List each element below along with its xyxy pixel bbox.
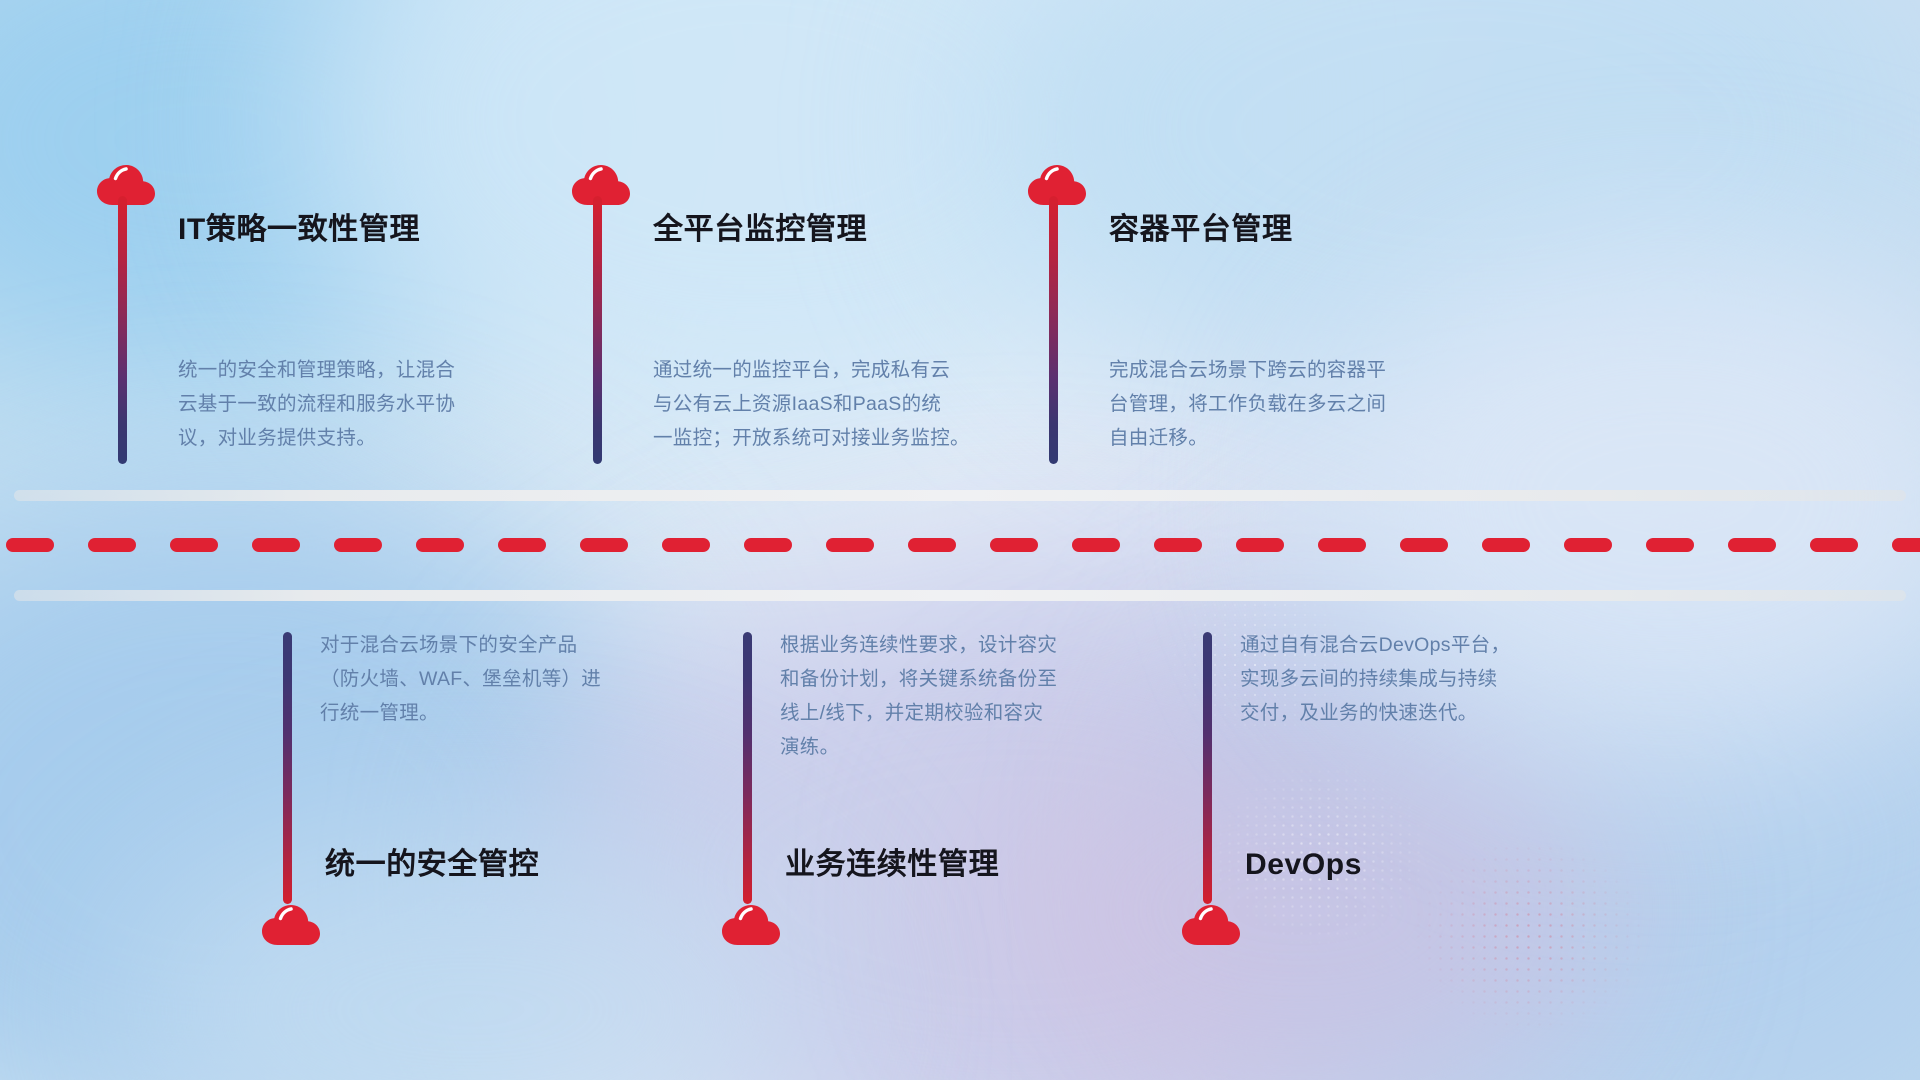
divider-dash (1072, 538, 1120, 552)
divider-dash (580, 538, 628, 552)
cloud-icon (720, 900, 782, 946)
column-title: 统一的安全管控 (325, 847, 539, 883)
background-speckle (1380, 810, 1680, 1060)
column-title: IT策略一致性管理 (178, 212, 420, 248)
body-line: 与公有云上资源IaaS和PaaS的统 (653, 387, 1053, 421)
body-line: 一监控；开放系统可对接业务监控。 (653, 421, 1053, 455)
body-line: 议，对业务提供支持。 (178, 421, 578, 455)
connector-stalk (118, 196, 127, 464)
divider-dash (990, 538, 1038, 552)
divider-dash (826, 538, 874, 552)
body-line: （防火墙、WAF、堡垒机等）进 (320, 662, 720, 696)
divider-dash (252, 538, 300, 552)
body-line: 交付，及业务的快速迭代。 (1240, 696, 1640, 730)
body-line: 对于混合云场景下的安全产品 (320, 628, 720, 662)
divider-rule-bottom (14, 590, 1906, 601)
body-line: 实现多云间的持续集成与持续 (1240, 662, 1640, 696)
background-blob (1180, 520, 1920, 1080)
divider-dash (1892, 538, 1920, 552)
divider-dash (1728, 538, 1776, 552)
divider-dash (1236, 538, 1284, 552)
connector-stalk (1049, 196, 1058, 464)
body-line: 统一的安全和管理策略，让混合 (178, 353, 578, 387)
divider-dash (416, 538, 464, 552)
divider-dash (662, 538, 710, 552)
cloud-icon (260, 900, 322, 946)
body-line: 云基于一致的流程和服务水平协 (178, 387, 578, 421)
column-title: 全平台监控管理 (653, 212, 867, 248)
body-line: 行统一管理。 (320, 696, 720, 730)
body-line: 通过统一的监控平台，完成私有云 (653, 353, 1053, 387)
column-body: 完成混合云场景下跨云的容器平 台管理，将工作负载在多云之间 自由迁移。 (1109, 353, 1509, 455)
divider-dash (334, 538, 382, 552)
column-body: 统一的安全和管理策略，让混合 云基于一致的流程和服务水平协 议，对业务提供支持。 (178, 353, 578, 455)
connector-stalk (743, 632, 752, 904)
divider-rule-top (14, 490, 1906, 501)
body-line: 完成混合云场景下跨云的容器平 (1109, 353, 1509, 387)
cloud-icon (1180, 900, 1242, 946)
background-blob (0, 0, 560, 400)
divider-dash (170, 538, 218, 552)
divider-dash (1318, 538, 1366, 552)
body-line: 线上/线下，并定期校验和容灾 (780, 696, 1180, 730)
connector-stalk (593, 196, 602, 464)
connector-stalk (1203, 632, 1212, 904)
infographic-canvas: IT策略一致性管理 统一的安全和管理策略，让混合 云基于一致的流程和服务水平协 … (0, 0, 1920, 1080)
body-line: 台管理，将工作负载在多云之间 (1109, 387, 1509, 421)
body-line: 自由迁移。 (1109, 421, 1509, 455)
divider-dash (498, 538, 546, 552)
column-body: 对于混合云场景下的安全产品 （防火墙、WAF、堡垒机等）进 行统一管理。 (320, 628, 720, 730)
divider-dash (1400, 538, 1448, 552)
divider-dash (88, 538, 136, 552)
column-body: 通过统一的监控平台，完成私有云 与公有云上资源IaaS和PaaS的统 一监控；开… (653, 353, 1053, 455)
column-body: 根据业务连续性要求，设计容灾 和备份计划，将关键系统备份至 线上/线下，并定期校… (780, 628, 1180, 764)
divider-dash (1482, 538, 1530, 552)
column-title: 容器平台管理 (1109, 212, 1293, 248)
divider-dash (6, 538, 54, 552)
divider-dashed-line (0, 538, 1920, 552)
divider-dash (908, 538, 956, 552)
body-line: 演练。 (780, 730, 1180, 764)
column-title: 业务连续性管理 (785, 847, 999, 883)
column-body: 通过自有混合云DevOps平台， 实现多云间的持续集成与持续 交付，及业务的快速… (1240, 628, 1640, 730)
divider-dash (1646, 538, 1694, 552)
connector-stalk (283, 632, 292, 904)
divider-dash (1564, 538, 1612, 552)
divider-dash (1154, 538, 1202, 552)
body-line: 根据业务连续性要求，设计容灾 (780, 628, 1180, 662)
column-title: DevOps (1245, 847, 1362, 883)
body-line: 通过自有混合云DevOps平台， (1240, 628, 1640, 662)
background-blob (0, 470, 680, 1080)
divider-dash (1810, 538, 1858, 552)
divider-dash (744, 538, 792, 552)
body-line: 和备份计划，将关键系统备份至 (780, 662, 1180, 696)
